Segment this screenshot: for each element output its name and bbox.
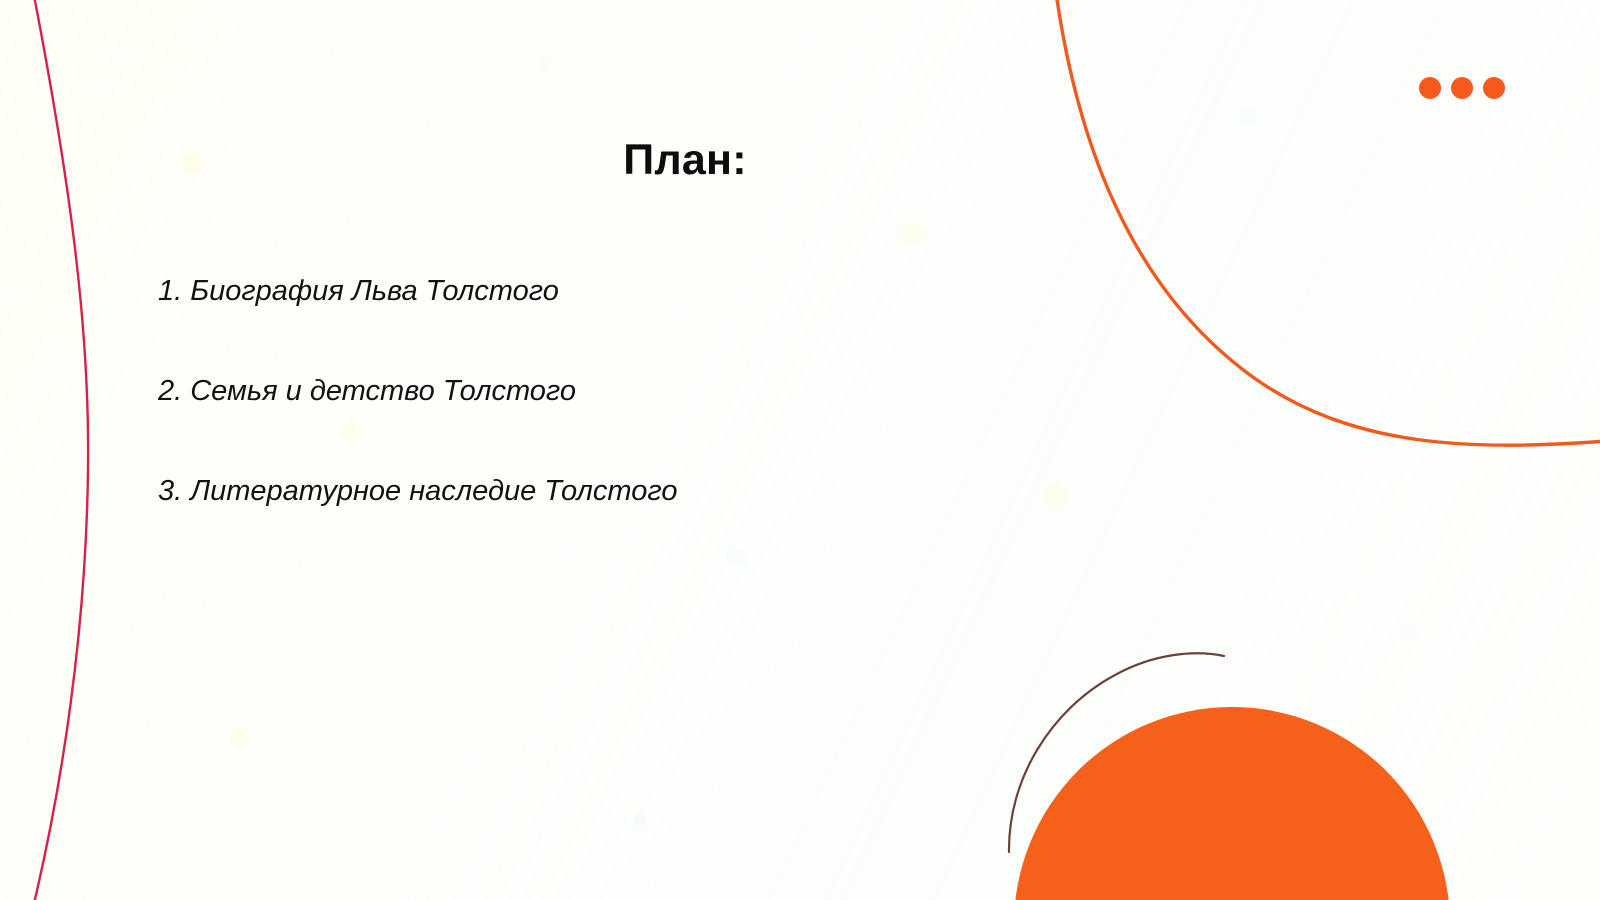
decor-dot-3 — [1483, 77, 1505, 99]
left-crimson-curve — [30, 0, 88, 900]
agenda-list: 1. Биография Льва Толстого 2. Семья и де… — [158, 276, 1058, 508]
slide-title: План: — [0, 136, 1370, 185]
decor-dots-group — [1419, 77, 1505, 99]
agenda-item-2: 2. Семья и детство Толстого — [158, 376, 1058, 408]
top-right-orange-arc — [1053, 0, 1600, 445]
bottom-right-orange-circle — [1014, 707, 1450, 900]
slide-canvas: План: 1. Биография Льва Толстого 2. Семь… — [0, 0, 1600, 900]
decor-dot-1 — [1419, 77, 1441, 99]
bottom-right-thin-arc — [1009, 653, 1224, 852]
decor-dot-2 — [1451, 77, 1473, 99]
agenda-item-1: 1. Биография Льва Толстого — [158, 276, 1058, 308]
agenda-item-3: 3. Литературное наследие Толстого — [158, 476, 1058, 508]
